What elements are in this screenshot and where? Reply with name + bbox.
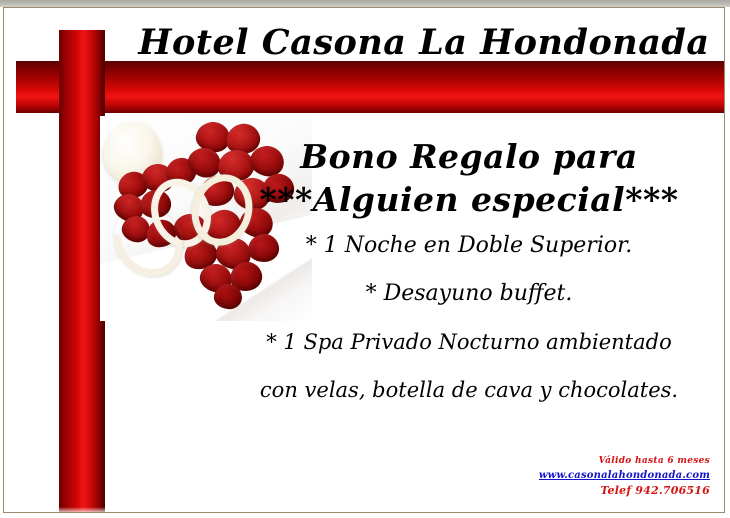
gift-certificate: Hotel Casona La Hondonada Bono Regalo pa… [0, 0, 730, 518]
footer-contact-block: Válido hasta 6 meses www.casonalahondona… [539, 454, 710, 498]
benefit-item-3-line-1: * 1 Spa Privado Nocturno ambientado [219, 318, 719, 366]
heading-line-1: Bono Regalo para [219, 136, 719, 178]
heading-line-2: ***Alguien especial*** [219, 178, 719, 222]
red-ribbon-horizontal-icon [16, 61, 725, 113]
validity-note: Válido hasta 6 meses [539, 454, 710, 468]
window-top-strip [0, 0, 730, 7]
benefit-item-1: * 1 Noche en Doble Superior. [219, 222, 719, 270]
website-link[interactable]: www.casonalahondonada.com [539, 468, 710, 483]
benefit-item-2: * Desayuno buffet. [219, 270, 719, 318]
benefit-item-3-line-2: con velas, botella de cava y chocolates. [219, 366, 719, 414]
red-ribbon-vertical-icon [59, 30, 105, 513]
phone-number: Telef 942.706516 [539, 483, 710, 498]
certificate-sheet: Hotel Casona La Hondonada Bono Regalo pa… [3, 7, 725, 513]
certificate-text-block: Bono Regalo para ***Alguien especial*** … [219, 136, 719, 414]
page-title: Hotel Casona La Hondonada [124, 22, 724, 64]
